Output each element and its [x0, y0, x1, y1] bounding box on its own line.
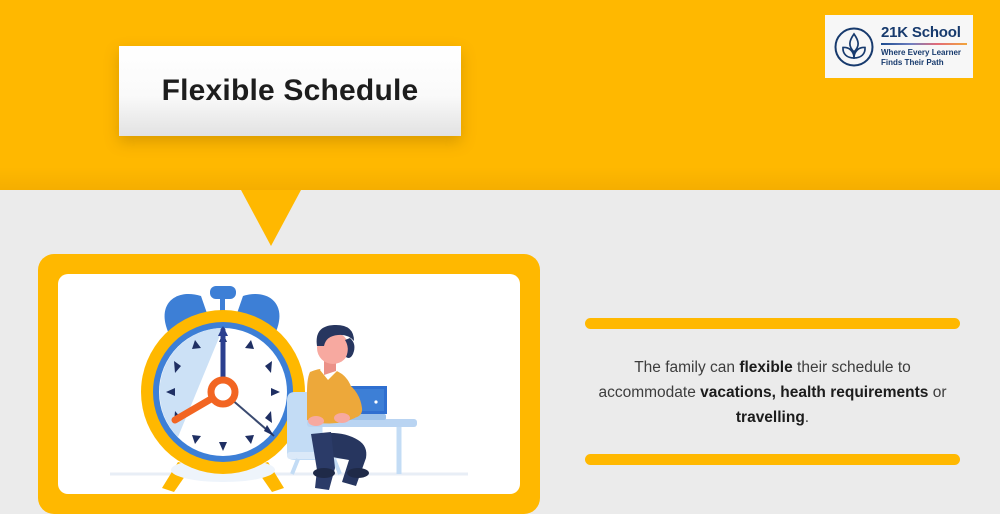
emphasis-text: vacations, health requirements: [700, 384, 928, 401]
title-card: Flexible Schedule: [119, 46, 461, 136]
alarm-clock: [141, 286, 305, 492]
emphasis-text: flexible: [739, 359, 792, 376]
illustration-card: [58, 274, 520, 494]
person-at-laptop: [287, 325, 417, 490]
header-pointer-triangle: [241, 190, 301, 246]
logo-tagline: Where Every Learner Finds Their Path: [881, 48, 967, 68]
plain-text: The family can: [634, 359, 739, 376]
accent-bar-bottom: [585, 454, 960, 465]
plain-text: .: [805, 409, 809, 426]
emphasis-text: travelling: [736, 409, 805, 426]
lotus-circle-emblem-icon: [832, 25, 876, 69]
logo-gradient-rule: [881, 43, 967, 45]
body-paragraph: The family can flexible their schedule t…: [585, 355, 960, 430]
brand-logo[interactable]: 21K School Where Every Learner Finds The…: [825, 15, 973, 78]
accent-bar-top: [585, 318, 960, 329]
plain-text: or: [928, 384, 946, 401]
flexible-schedule-illustration: [58, 274, 520, 494]
page-title: Flexible Schedule: [162, 74, 419, 108]
illustration-frame: [38, 254, 540, 514]
logo-name: 21K School: [881, 25, 967, 41]
text-panel: The family can flexible their schedule t…: [585, 318, 960, 465]
logo-text-block: 21K School Where Every Learner Finds The…: [881, 25, 967, 68]
